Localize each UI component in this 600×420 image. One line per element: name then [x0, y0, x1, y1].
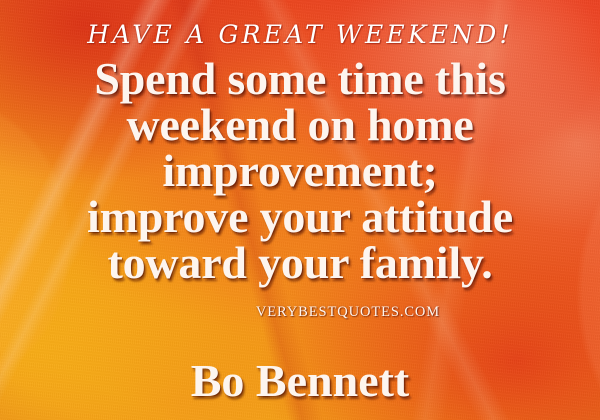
poster-content: HAVE A GREAT WEEKEND! Spend some time th… — [0, 0, 600, 420]
greeting-header: HAVE A GREAT WEEKEND! — [0, 20, 600, 49]
quote-line-1: Spend some time this — [0, 56, 600, 102]
quote-line-5: toward your family. — [0, 240, 600, 286]
quote-author: Bo Bennett — [0, 358, 600, 404]
quote-line-2: weekend on home — [0, 102, 600, 148]
quote-poster: HAVE A GREAT WEEKEND! Spend some time th… — [0, 0, 600, 420]
quote-line-3: improvement; — [0, 148, 600, 194]
quote-line-4: improve your attitude — [0, 194, 600, 240]
source-watermark: VERYBESTQUOTES.COM — [0, 304, 600, 321]
quote-text-block: Spend some time this weekend on home imp… — [0, 56, 600, 286]
